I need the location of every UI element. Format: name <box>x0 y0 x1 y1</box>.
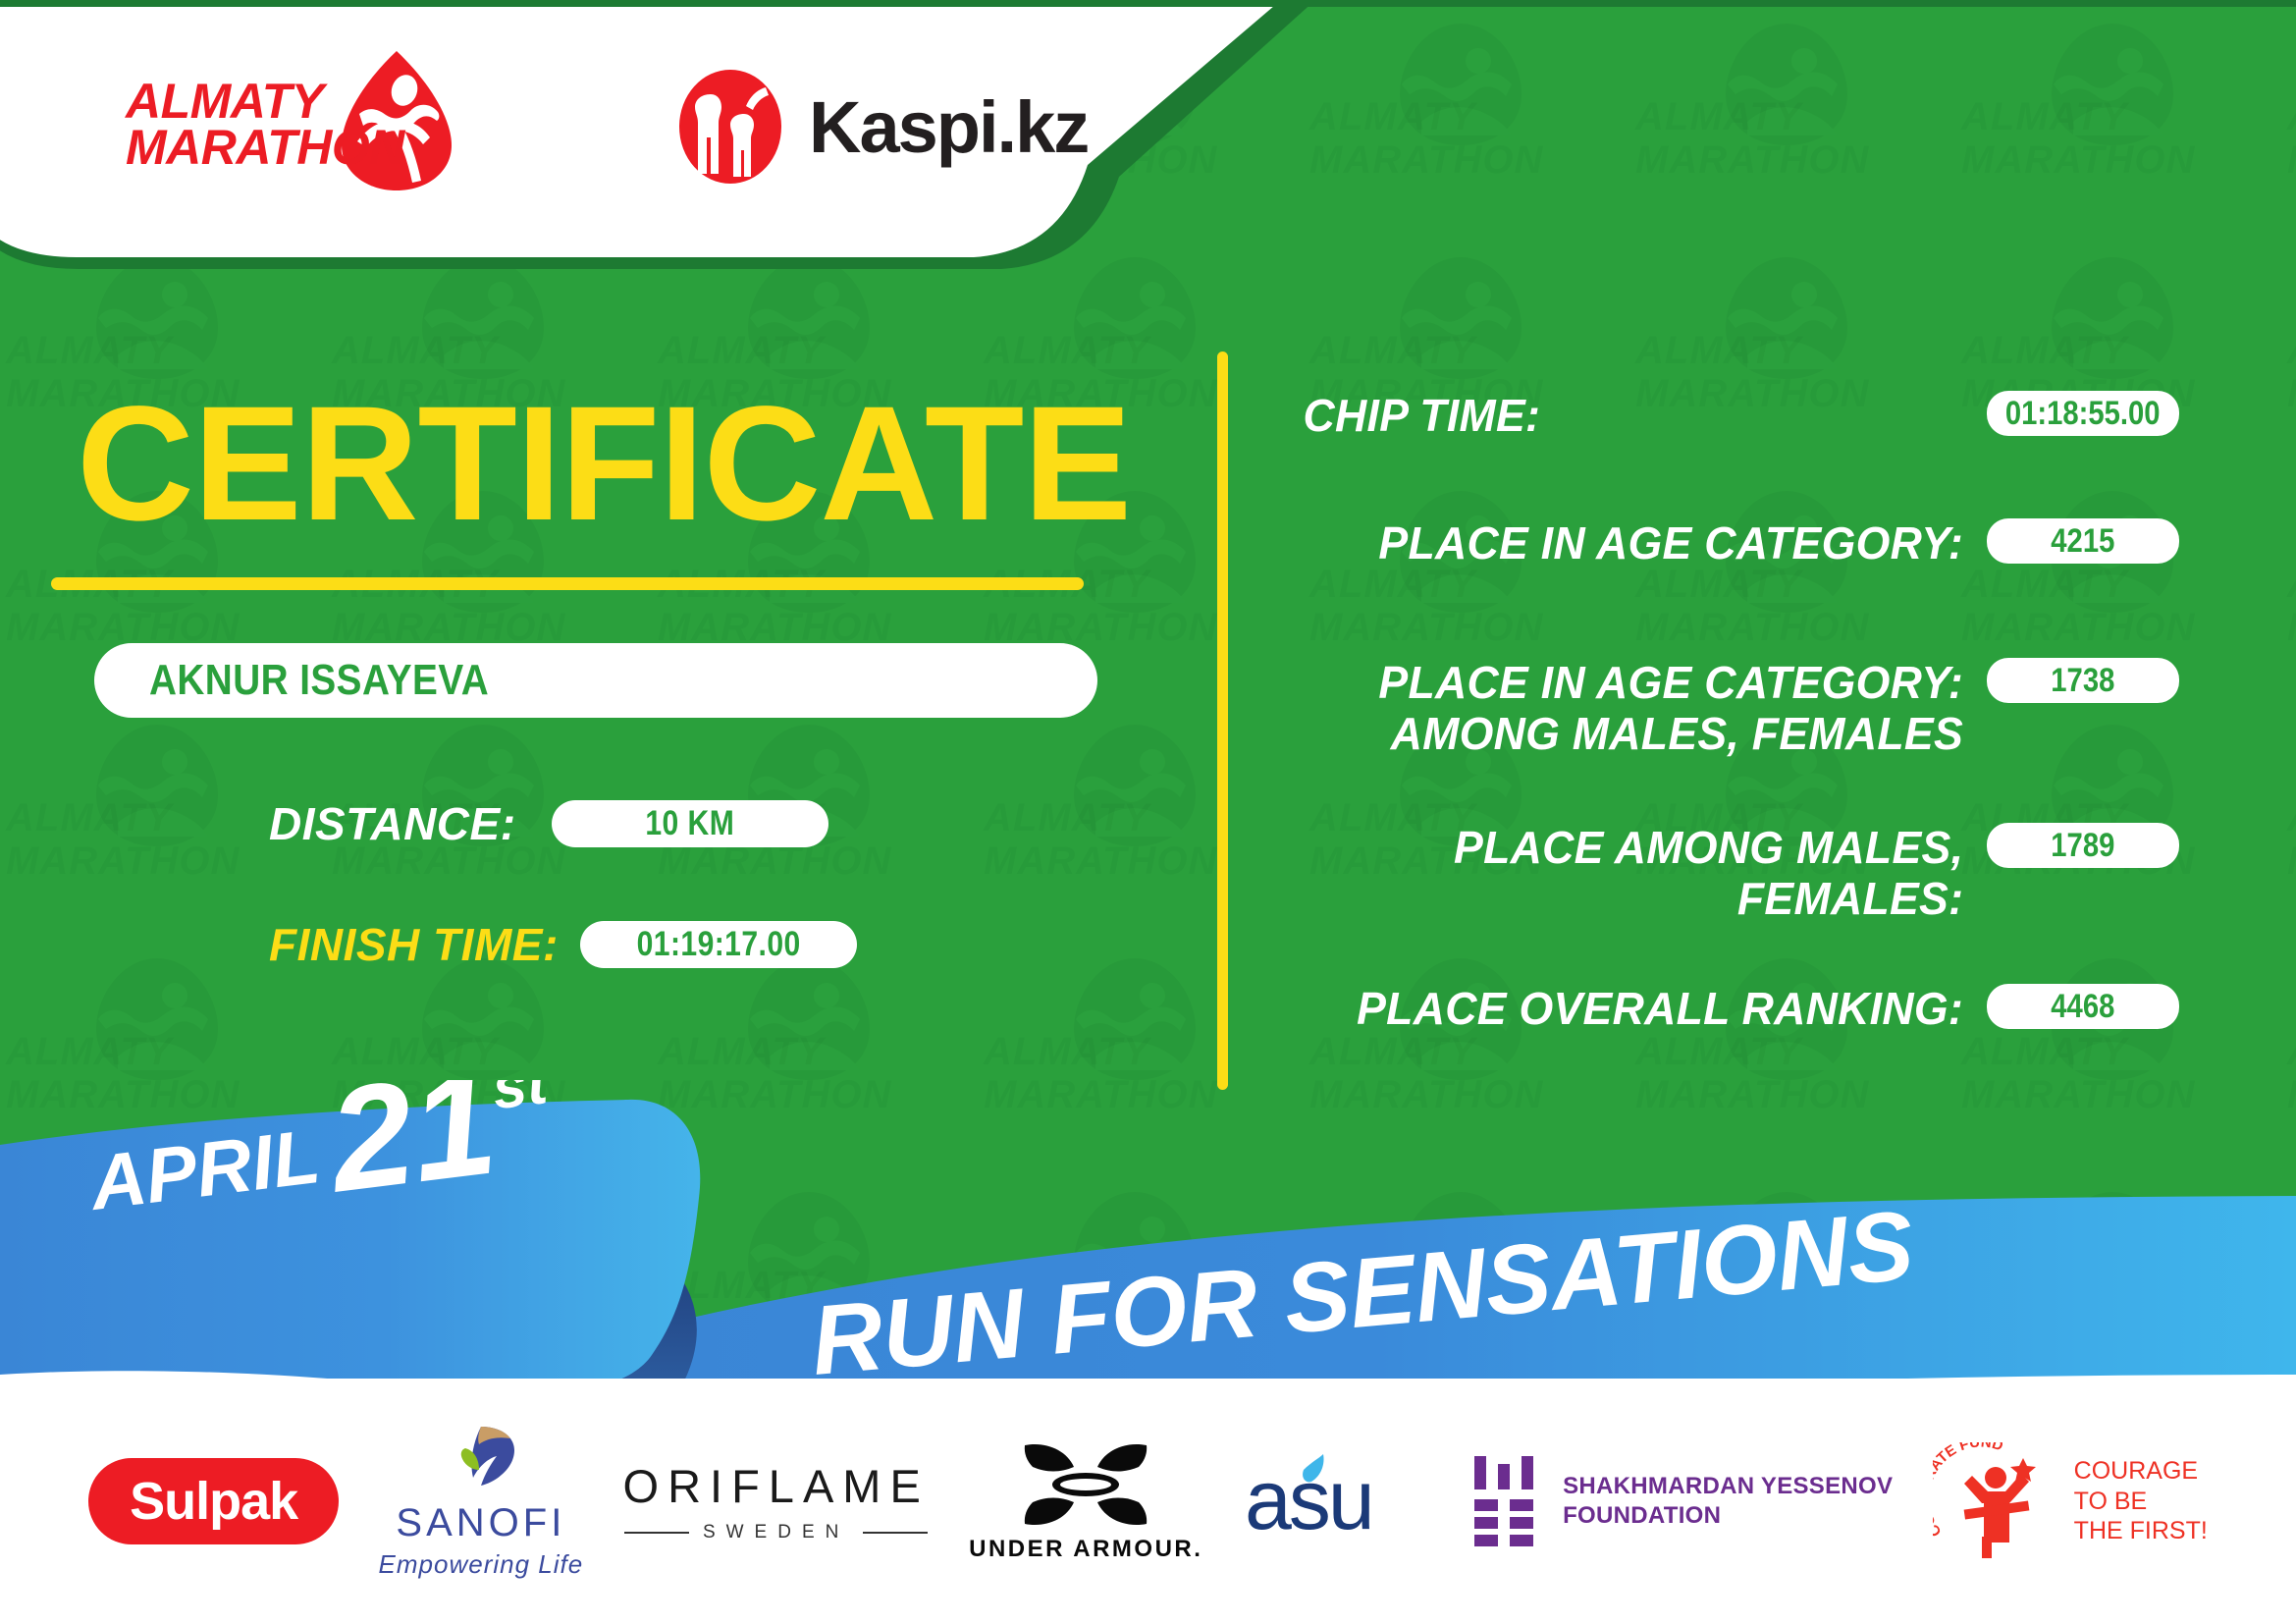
sponsor-under-armour: UNDER ARMOUR. <box>969 1439 1202 1563</box>
sanofi-wordmark: SANOFI <box>379 1501 584 1545</box>
courage-line1: COURAGE <box>2074 1456 2208 1487</box>
overall-ranking-value-pill: 4468 <box>1987 984 2179 1029</box>
sanofi-tagline: Empowering Life <box>379 1549 584 1580</box>
chip-time-label: CHIP TIME: <box>1303 391 1540 442</box>
sponsor-oriflame: ORIFLAME SWEDEN <box>623 1459 930 1543</box>
oriflame-rule-left <box>624 1532 689 1534</box>
courage-fund-icon: CORPORATE FUND <box>1933 1442 2060 1560</box>
courage-line3: THE FIRST! <box>2074 1516 2208 1546</box>
result-row-overall: PLACE OVERALL RANKING: 4468 <box>1296 984 2179 1035</box>
distance-value: 10 KM <box>645 804 734 843</box>
age-category-label: PLACE IN AGE CATEGORY: <box>1378 518 1963 569</box>
oriflame-subline: SWEDEN <box>623 1522 930 1543</box>
age-category-value: 4215 <box>2051 522 2114 561</box>
result-row-place-gender: PLACE AMONG MALES, FEMALES: 1789 <box>1296 823 2179 924</box>
sanofi-mark-icon <box>436 1423 526 1497</box>
oriflame-country: SWEDEN <box>703 1522 849 1543</box>
sponsor-asu: asu <box>1243 1452 1429 1550</box>
result-row-age-category: PLACE IN AGE CATEGORY: 4215 <box>1296 518 2179 569</box>
event-ribbon: APRIL 21 st RUN FOR SENSATIONS <box>0 1080 2296 1394</box>
distance-value-pill: 10 KM <box>552 800 828 847</box>
page-title: CERTIFICATE <box>77 383 1131 546</box>
yessenov-line1: SHAKHMARDAN YESSENOV <box>1563 1472 1893 1501</box>
title-underline <box>51 577 1084 590</box>
age-category-gender-value-pill: 1738 <box>1987 658 2179 703</box>
sponsor-sulpak: Sulpak <box>88 1458 339 1544</box>
overall-ranking-value: 4468 <box>2051 988 2114 1026</box>
under-armour-icon <box>1017 1439 1154 1530</box>
oriflame-wordmark: ORIFLAME <box>623 1459 930 1513</box>
ribbon-day: 21 <box>318 1080 504 1223</box>
athlete-name-field: AKNUR ISSAYEVA <box>94 643 1097 718</box>
certificate-page: ALMATY MARATHON ALMATY MARATHON <box>0 0 2296 1624</box>
finish-time-label: FINISH TIME: <box>269 918 559 971</box>
sponsor-courage-fund: CORPORATE FUND COURAGE TO BE THE FIRST! <box>1933 1442 2208 1560</box>
sponsor-bar: Sulpak SANOFI Empowering Life ORIFLAME S… <box>0 1379 2296 1624</box>
place-gender-value-pill: 1789 <box>1987 823 2179 868</box>
place-gender-label: PLACE AMONG MALES, FEMALES: <box>1454 823 1963 924</box>
place-gender-value: 1789 <box>2051 827 2114 865</box>
athlete-name: AKNUR ISSAYEVA <box>149 656 489 705</box>
sponsor-yessenov-foundation: SHAKHMARDAN YESSENOV FOUNDATION <box>1468 1452 1893 1550</box>
sulpak-wordmark: Sulpak <box>88 1458 339 1544</box>
ribbon-day-suffix: st <box>489 1080 553 1122</box>
asu-logo-icon: asu <box>1243 1452 1429 1550</box>
under-armour-wordmark: UNDER ARMOUR. <box>969 1536 1202 1563</box>
age-category-gender-label: PLACE IN AGE CATEGORY: AMONG MALES, FEMA… <box>1378 658 1963 759</box>
oriflame-rule-right <box>863 1532 928 1534</box>
age-category-value-pill: 4215 <box>1987 518 2179 564</box>
age-category-gender-value: 1738 <box>2051 662 2114 700</box>
finish-time-row: FINISH TIME: 01:19:17.00 <box>269 918 857 971</box>
yessenov-line2: FOUNDATION <box>1563 1501 1893 1531</box>
result-row-age-category-gender: PLACE IN AGE CATEGORY: AMONG MALES, FEMA… <box>1296 658 2179 759</box>
finish-time-value: 01:19:17.00 <box>636 925 800 964</box>
chip-time-value: 01:18:55.00 <box>2005 395 2161 433</box>
overall-ranking-label: PLACE OVERALL RANKING: <box>1357 984 1963 1035</box>
chip-time-value-pill: 01:18:55.00 <box>1987 391 2179 436</box>
courage-line2: TO BE <box>2074 1487 2208 1517</box>
vertical-divider <box>1217 352 1228 1090</box>
result-row-chip-time: CHIP TIME: 01:18:55.00 <box>1296 391 2179 442</box>
distance-row: DISTANCE: 10 KM <box>269 797 828 850</box>
yessenov-mark-icon <box>1468 1452 1543 1550</box>
finish-time-value-pill: 01:19:17.00 <box>580 921 857 968</box>
sponsor-sanofi: SANOFI Empowering Life <box>379 1423 584 1580</box>
distance-label: DISTANCE: <box>269 797 516 850</box>
